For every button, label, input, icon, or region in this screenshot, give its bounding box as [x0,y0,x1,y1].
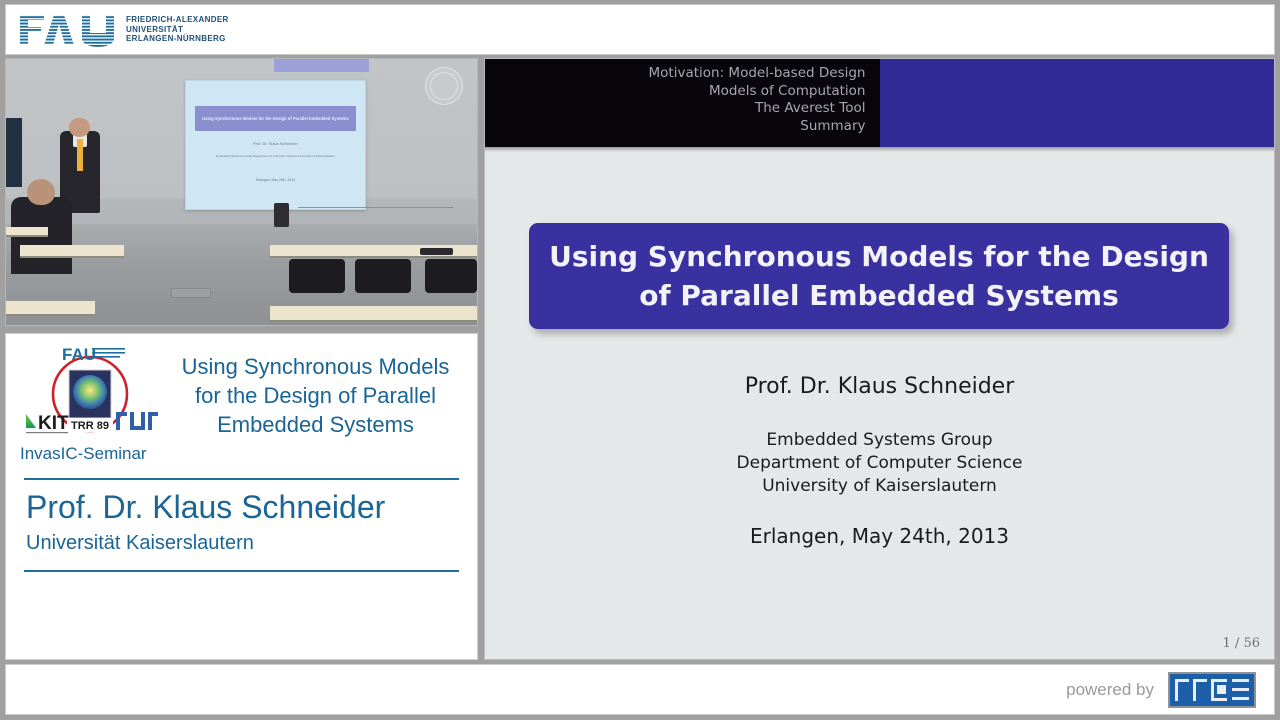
floor-hatch [171,288,211,298]
talk-info-panel: TRR 89 FAU KIT [5,333,478,660]
slide-page-indicator: 1 / 56 [1223,636,1260,651]
info-top-row: TRR 89 FAU KIT [6,334,477,464]
outline-item-0: Motivation: Model-based Design [485,65,866,83]
chair [289,259,346,294]
speaker-name: Prof. Dr. Klaus Schneider [26,488,457,526]
projected-slide-author: Prof. Dr. Klaus Schneider [186,141,365,146]
wall-speaker-box [274,203,288,227]
ceiling-strip [274,59,368,72]
svg-text:FAU: FAU [62,345,96,364]
affiliation-line-1: Department of Computer Science [485,452,1274,475]
top-banner: FRIEDRICH-ALEXANDER UNIVERSITÄT ERLANGEN… [5,4,1275,55]
wall-panel [6,118,22,187]
rrze-logo-icon[interactable] [1168,672,1256,708]
slide-header-shadow [485,147,1274,152]
speaker-head [69,118,90,138]
slide-outline-list: Motivation: Model-based Design Models of… [485,59,880,147]
svg-text:TRR 89: TRR 89 [71,420,109,432]
outline-item-3: Summary [485,118,866,136]
speaker-organization: Universität Kaiserslautern [26,530,457,556]
fau-wordmark-icon [20,13,116,47]
slide-header: Motivation: Model-based Design Models of… [485,59,1274,147]
slide-affiliation: Embedded Systems Group Department of Com… [485,429,1274,498]
projected-slide-affiliation: Embedded Systems Group Department of Com… [186,155,365,159]
wall-rail [298,207,453,209]
fau-logo: FRIEDRICH-ALEXANDER UNIVERSITÄT ERLANGEN… [20,13,229,47]
slide-header-accent [880,59,1275,147]
projected-slide-date: Erlangen, May 24th, 2013 [186,178,365,182]
video-player[interactable]: Using Synchronous Models for the Design … [5,58,478,326]
player-page: FRIEDRICH-ALEXANDER UNIVERSITÄT ERLANGEN… [0,0,1280,720]
seminar-series-label: InvasIC-Seminar [16,444,164,464]
outline-item-1: Models of Computation [485,83,866,101]
speaker-tie [77,139,83,171]
fau-org-text: FRIEDRICH-ALEXANDER UNIVERSITÄT ERLANGEN… [126,15,229,44]
desk [20,245,124,258]
desk [6,301,95,316]
seated-attendee-head [27,179,55,206]
talk-title: Using Synchronous Models for the Design … [164,342,467,464]
fau-org-line2: UNIVERSITÄT [126,25,229,35]
powered-by-label: powered by [1066,680,1154,700]
affiliation-line-0: Embedded Systems Group [485,429,1274,452]
footer-bar: powered by [5,664,1275,715]
slide-author: Prof. Dr. Klaus Schneider [485,374,1274,399]
affiliation-line-2: University of Kaiserslautern [485,475,1274,498]
desk [6,227,48,237]
fau-org-line1: FRIEDRICH-ALEXANDER [126,15,229,25]
divider-bottom [24,570,459,572]
table-microphone [420,248,453,255]
invasic-logo-block: TRR 89 FAU KIT [16,342,164,464]
chair [355,259,412,294]
slide-viewer[interactable]: Motivation: Model-based Design Models of… [484,58,1275,660]
fau-seal-watermark-icon [425,67,463,105]
speaker-block: Prof. Dr. Klaus Schneider Universität Ka… [6,480,477,556]
projected-slide-title: Using Synchronous Models for the Design … [195,106,356,132]
fau-org-line3: ERLANGEN-NÜRNBERG [126,34,229,44]
projection-screen: Using Synchronous Models for the Design … [185,80,366,210]
svg-text:KIT: KIT [38,413,69,434]
slide-title-box: Using Synchronous Models for the Design … [529,223,1229,329]
desk [270,306,477,321]
invasic-logo-icon: TRR 89 FAU KIT [20,342,160,442]
outline-item-2: The Averest Tool [485,100,866,118]
slide-date: Erlangen, May 24th, 2013 [485,524,1274,548]
chair [425,259,477,294]
